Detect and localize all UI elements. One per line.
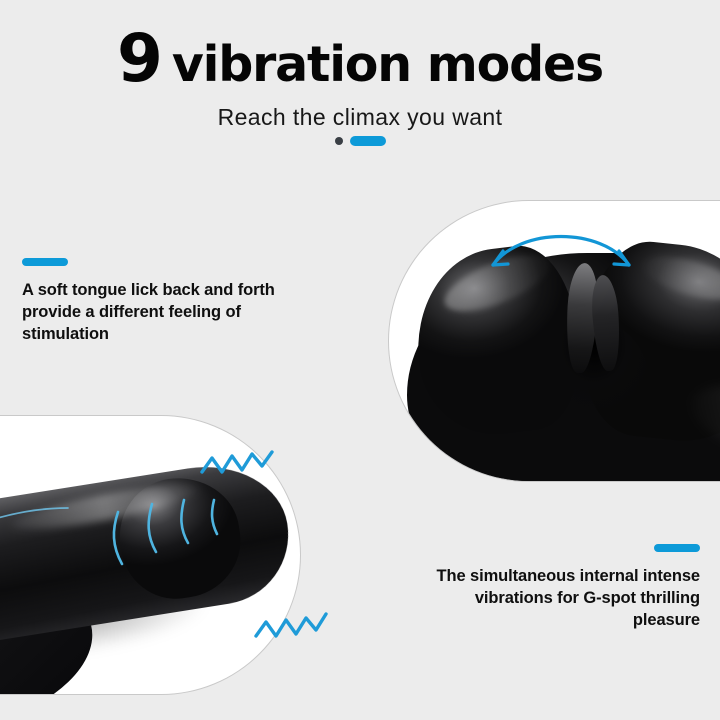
page-title: 9 vibration modes bbox=[0, 26, 720, 92]
headline-number: 9 bbox=[117, 26, 162, 92]
infographic-canvas: 9 vibration modes Reach the climax you w… bbox=[0, 0, 720, 720]
header: 9 vibration modes Reach the climax you w… bbox=[0, 26, 720, 131]
accent-bar-icon bbox=[22, 258, 68, 266]
vibration-zigzag-top-icon bbox=[198, 448, 278, 482]
tongue-head-panel bbox=[388, 200, 720, 482]
feature-gspot-vibration-text: The simultaneous internal intense vibrat… bbox=[420, 566, 700, 632]
vibration-zigzag-bottom-icon bbox=[252, 608, 332, 642]
feature-tongue-lick: A soft tongue lick back and forth provid… bbox=[22, 258, 292, 346]
pager-dot-icon[interactable] bbox=[335, 137, 343, 145]
feature-tongue-lick-text: A soft tongue lick back and forth provid… bbox=[22, 280, 292, 346]
pager-indicator bbox=[0, 136, 720, 146]
tongue-product-image bbox=[389, 201, 720, 481]
double-headed-curved-arrow-icon bbox=[481, 221, 641, 279]
accent-bar-icon bbox=[654, 544, 700, 552]
headline-text: vibration modes bbox=[172, 40, 603, 89]
subtitle: Reach the climax you want bbox=[0, 104, 720, 131]
feature-gspot-vibration: The simultaneous internal intense vibrat… bbox=[420, 544, 700, 632]
pager-active-pill-icon[interactable] bbox=[350, 136, 386, 146]
